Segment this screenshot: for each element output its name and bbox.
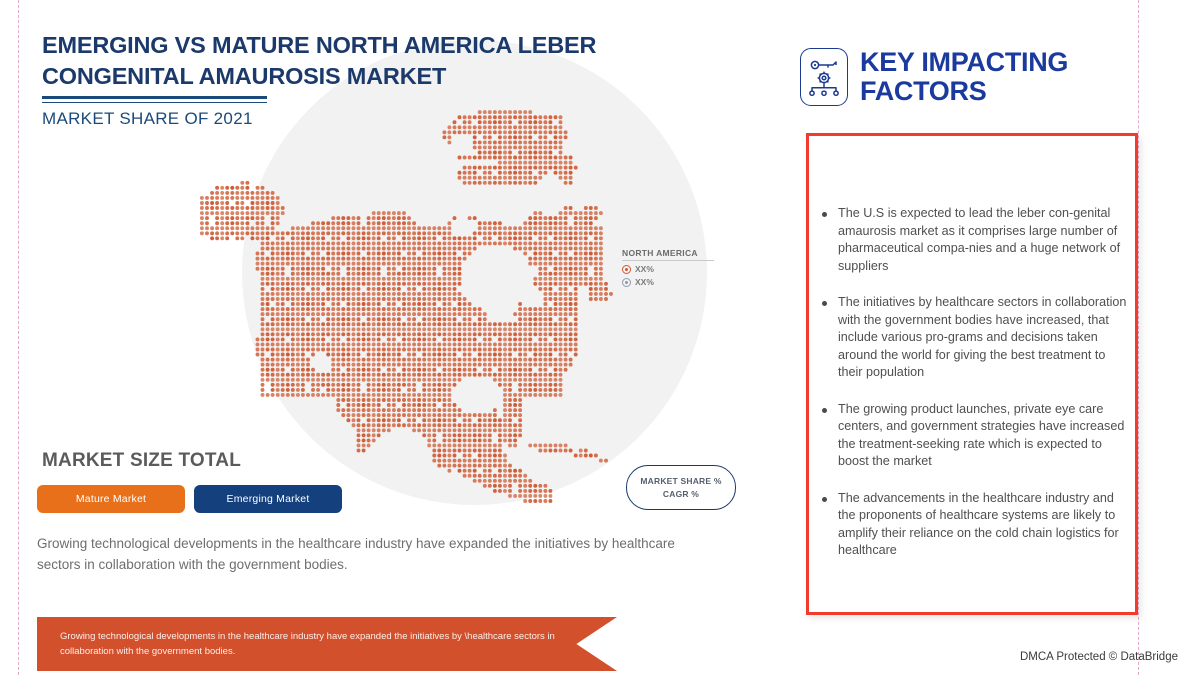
bullet-dot-icon (822, 212, 827, 217)
title-divider (42, 96, 267, 103)
orange-circle-marker-icon (622, 265, 631, 274)
bullet-dot-icon (822, 497, 827, 502)
summary-paragraph: Growing technological developments in th… (37, 533, 677, 575)
map-legend-row-2: XX% (622, 277, 714, 287)
cagr-label: CAGR % (663, 488, 699, 501)
right-panel: KEY IMPACTING FACTORS The U.S is expecte… (780, 0, 1200, 675)
list-item: The U.S is expected to lead the leber co… (822, 205, 1132, 275)
footer-copyright: DMCA Protected © DataBridge (1020, 651, 1178, 663)
title-divider-thick (42, 96, 267, 99)
key-impacting-factors-title: KEY IMPACTING FACTORS (860, 48, 1068, 106)
market-share-cagr-pill: MARKET SHARE % CAGR % (626, 465, 736, 510)
list-item: The growing product launches, private ey… (822, 401, 1132, 471)
key-gear-network-icon (800, 48, 848, 106)
map-legend-row-1: XX% (622, 264, 714, 274)
list-item: The advancements in the healthcare indus… (822, 490, 1132, 560)
left-panel: EMERGING VS MATURE NORTH AMERICA LEBER C… (0, 0, 760, 675)
mature-market-button[interactable]: Mature Market (37, 485, 185, 513)
map-legend-value-2: XX% (635, 277, 654, 287)
kif-title-line-2: FACTORS (860, 77, 1068, 106)
infographic-page: EMERGING VS MATURE NORTH AMERICA LEBER C… (0, 0, 1200, 675)
north-america-dot-map (200, 95, 620, 505)
bullet-dot-icon (822, 408, 827, 413)
grey-circle-marker-icon (622, 278, 631, 287)
page-title-line-1: EMERGING VS MATURE NORTH AMERICA LEBER (42, 30, 702, 61)
list-item-text: The initiatives by healthcare sectors in… (838, 294, 1130, 382)
orange-callout-banner: Growing technological developments in th… (37, 617, 617, 671)
list-item-text: The U.S is expected to lead the leber co… (838, 205, 1130, 275)
page-title-line-2: CONGENITAL AMAUROSIS MARKET (42, 61, 702, 92)
page-title: EMERGING VS MATURE NORTH AMERICA LEBER C… (42, 30, 702, 92)
map-legend-region: NORTH AMERICA (622, 248, 714, 261)
market-size-total-heading: MARKET SIZE TOTAL (42, 450, 241, 472)
page-subtitle: MARKET SHARE OF 2021 (42, 109, 253, 129)
map-legend: NORTH AMERICA XX% XX% (622, 248, 714, 287)
key-factors-list: The U.S is expected to lead the leber co… (822, 205, 1132, 579)
orange-callout-banner-text: Growing technological developments in th… (37, 629, 557, 659)
market-type-buttons: Mature Market Emerging Market (37, 485, 342, 513)
emerging-market-button[interactable]: Emerging Market (194, 485, 342, 513)
map-legend-value-1: XX% (635, 264, 654, 274)
title-divider-thin (42, 102, 267, 103)
key-impacting-factors-header: KEY IMPACTING FACTORS (800, 48, 1068, 106)
list-item-text: The growing product launches, private ey… (838, 401, 1130, 471)
bullet-dot-icon (822, 301, 827, 306)
list-item: The initiatives by healthcare sectors in… (822, 294, 1132, 382)
kif-title-line-1: KEY IMPACTING (860, 48, 1068, 77)
market-share-label: MARKET SHARE % (640, 475, 721, 488)
list-item-text: The advancements in the healthcare indus… (838, 490, 1130, 560)
